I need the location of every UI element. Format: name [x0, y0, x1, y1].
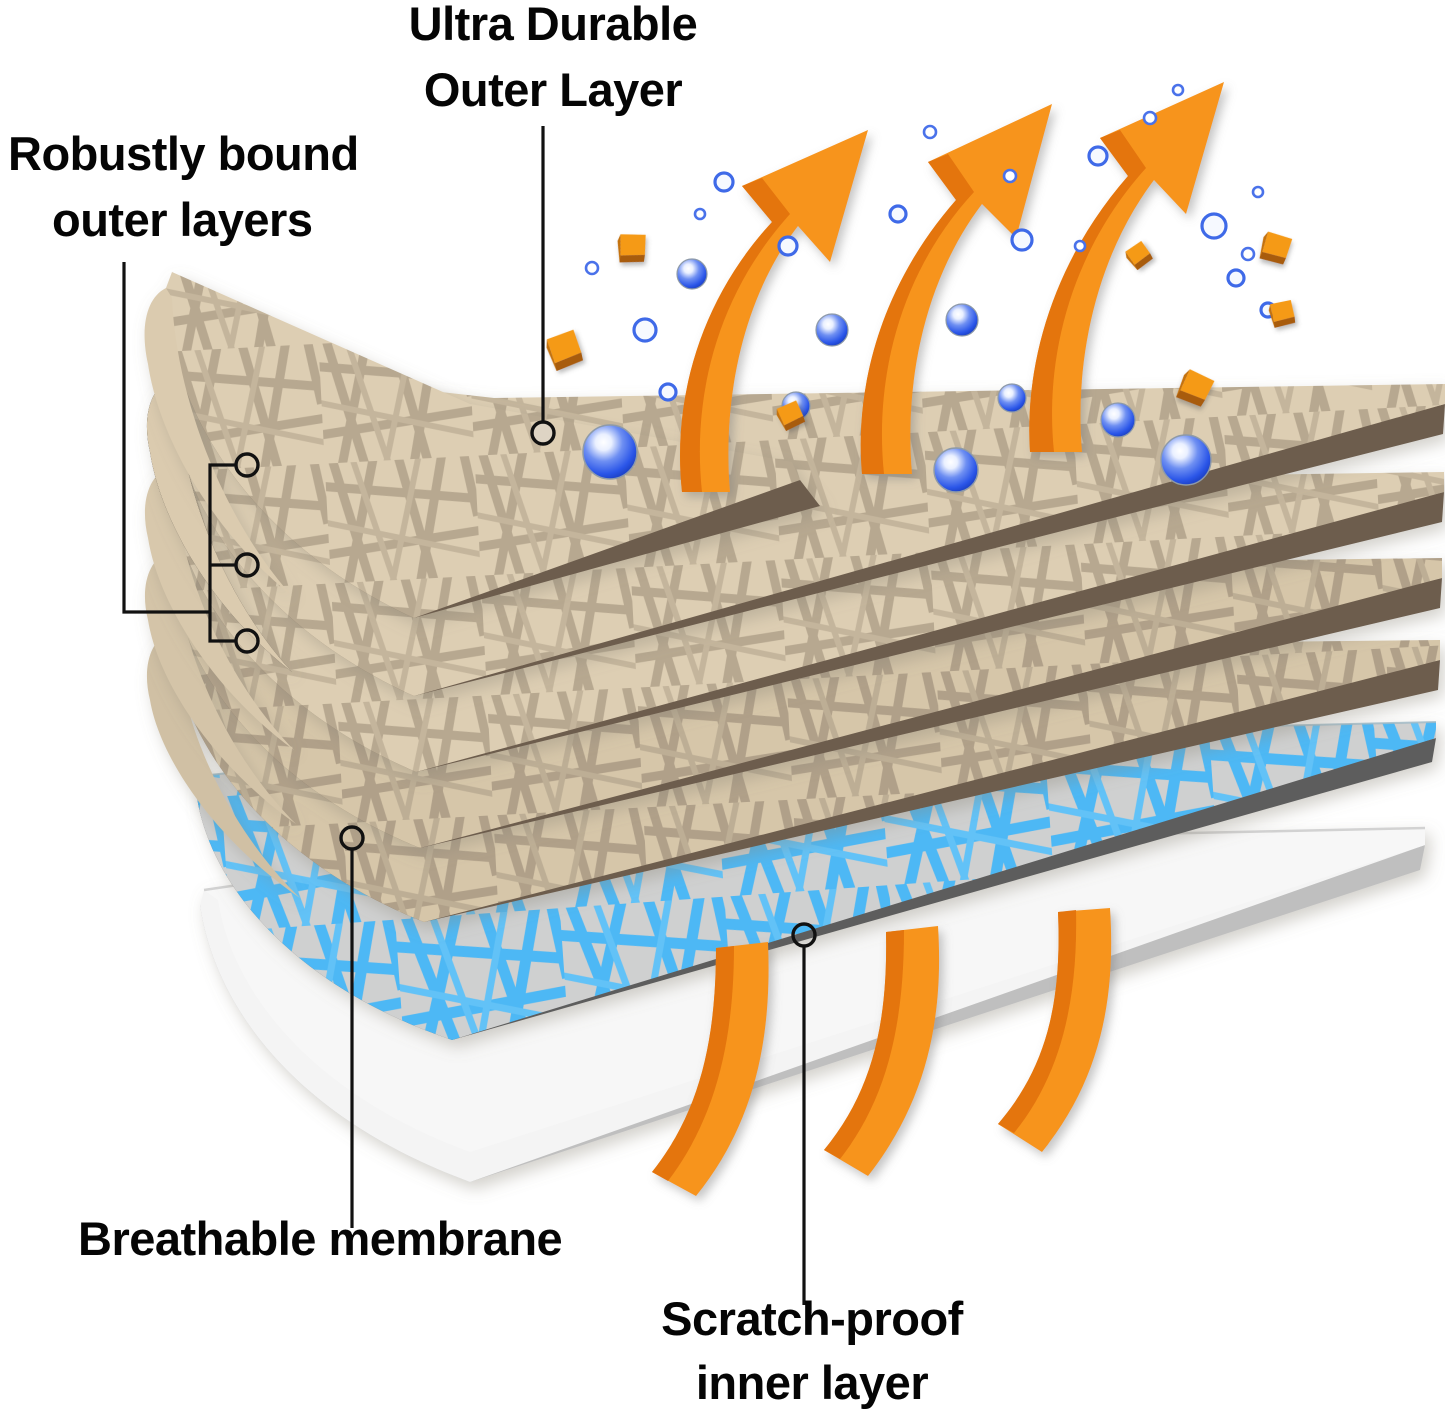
label-line-1: Scratch-proof: [661, 1292, 963, 1345]
label-line-2: Outer Layer: [424, 63, 683, 116]
layered-fabric-diagram: Ultra Durable Outer Layer Robustly bound…: [0, 0, 1445, 1410]
diagram-canvas: Ultra Durable Outer Layer Robustly bound…: [0, 0, 1445, 1410]
label-line-1: Ultra Durable: [409, 0, 698, 50]
leader-endpoint-dot: [532, 422, 554, 444]
label-line-2: outer layers: [52, 193, 312, 246]
callout-label-breathable-membrane: Breathable membrane: [78, 1212, 562, 1265]
label-line-1: Breathable membrane: [78, 1212, 562, 1265]
label-line-1: Robustly bound: [8, 127, 359, 180]
label-line-2: inner layer: [696, 1356, 928, 1409]
